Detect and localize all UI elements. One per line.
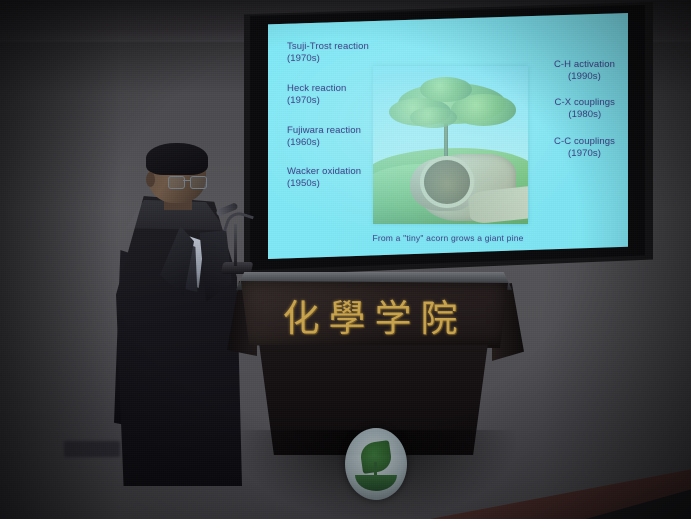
slide-label-year: (1960s) xyxy=(287,137,361,149)
slide-label-name: C-H activation xyxy=(554,59,615,70)
slide-label-year: (1990s) xyxy=(554,71,615,83)
slide-label-name: Heck reaction xyxy=(287,83,346,94)
emblem-base xyxy=(355,475,397,491)
slide-label-year: (1970s) xyxy=(554,148,615,160)
slide-label-name: Wacker oxidation xyxy=(287,166,361,177)
slide-label-fujiwara: Fujiwara reaction (1960s) xyxy=(287,125,361,149)
slide-caption: From a "tiny" acorn grows a giant pine xyxy=(268,233,628,243)
slide-label-year: (1970s) xyxy=(287,95,346,107)
photo-forearm xyxy=(468,186,528,224)
slide-label-name: C-X couplings xyxy=(555,97,615,108)
speaker-ear xyxy=(146,172,155,187)
slide-label-name: Fujiwara reaction xyxy=(287,125,361,136)
slide-label-wacker: Wacker oxidation (1950s) xyxy=(287,166,361,190)
slide-label-year: (1950s) xyxy=(287,178,361,190)
photo-tree-canopy xyxy=(410,107,457,128)
slide-label-year: (1970s) xyxy=(287,53,369,65)
wall-marking xyxy=(64,441,120,457)
glasses-icon xyxy=(168,176,206,187)
slide-photo-tree-and-acorn xyxy=(373,66,528,224)
glasses-bridge xyxy=(183,180,190,181)
glasses-lens-left xyxy=(168,176,185,189)
speaker-hair xyxy=(146,143,208,175)
university-emblem xyxy=(345,428,407,500)
photo-acorn-in-hands xyxy=(420,156,475,208)
slide-label-year: (1980s) xyxy=(555,109,615,121)
slide-label-cx-couplings: C-X couplings (1980s) xyxy=(555,97,615,121)
slide-label-heck: Heck reaction (1970s) xyxy=(287,83,346,107)
lecture-hall-scene: Tsuji-Trost reaction (1970s) Heck reacti… xyxy=(0,0,691,519)
slide-label-ch-activation: C-H activation (1990s) xyxy=(554,59,615,83)
slide-label-name: C-C couplings xyxy=(554,136,615,147)
slide-label-name: Tsuji-Trost reaction xyxy=(287,41,369,52)
glasses-lens-right xyxy=(190,176,207,189)
slide-label-tsuji-trost: Tsuji-Trost reaction (1970s) xyxy=(287,41,369,65)
slide-label-cc-couplings: C-C couplings (1970s) xyxy=(554,136,615,160)
podium-inscription: 化學学院 xyxy=(241,288,508,342)
presentation-slide: Tsuji-Trost reaction (1970s) Heck reacti… xyxy=(268,13,628,259)
